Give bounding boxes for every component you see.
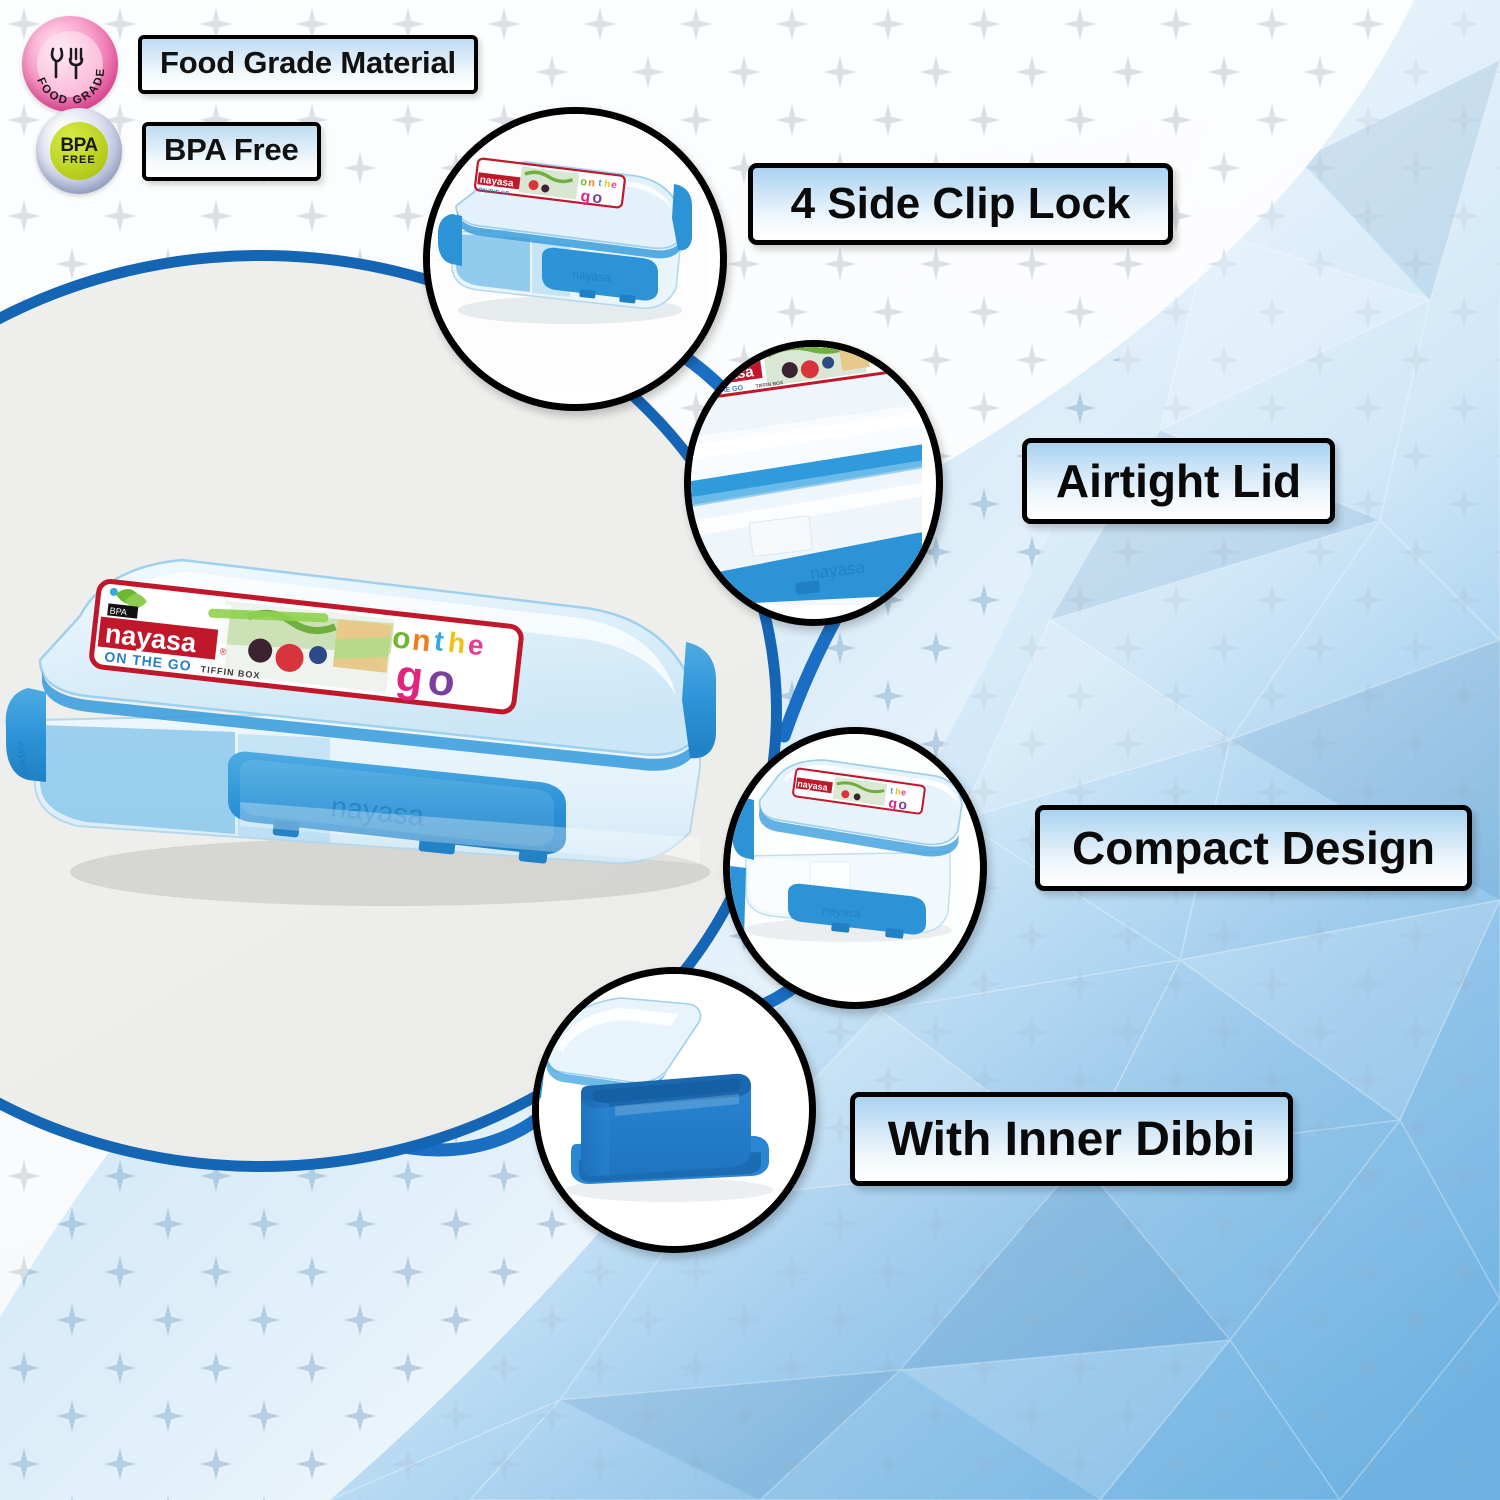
food-grade-arc-text: FOOD GRADE [22,16,118,112]
feature-label-compact-design: Compact Design [1035,805,1472,891]
callout-clip-lock[interactable]: nayasa nayasa ON THE GO o n t h e g o [423,107,727,411]
lunchbox-closed-photo: nayasa nayasa ON THE GO o n t h e g o [430,114,706,390]
feature-label-airtight-lid: Airtight Lid [1022,438,1335,524]
feature-label-clip-lock: 4 Side Clip Lock [748,163,1173,245]
infographic-canvas: nayasa nayasa [0,0,1500,1500]
certification-food-grade: FOOD GRADE Food Grade Material [22,16,478,112]
svg-text:BPA: BPA [109,606,127,618]
feature-label-inner-dibbi: With Inner Dibbi [850,1092,1293,1186]
svg-text:g: g [394,651,426,703]
bpa-free-label: BPA Free [164,132,299,168]
feature-text-clip-lock: 4 Side Clip Lock [791,179,1131,229]
lid-seal-closeup-photo: nayasa ON THE GO TIFFIN BOX BPA [691,347,922,605]
hero-product-image: nayasa nayasa [0,520,760,920]
bpa-seal-line1: BPA [60,137,97,155]
svg-text:g: g [580,188,592,206]
lunchbox-open-photo: nayasa t h e g o nayasa [730,734,966,988]
food-grade-seal-text: FOOD GRADE [34,66,107,107]
bpa-free-icon: BPA FREE [50,122,108,180]
certification-bpa-free: BPA FREE BPA Free [36,108,321,194]
callout-compact-design[interactable]: nayasa t h e g o nayasa [723,727,987,1009]
callout-airtight-lid[interactable]: nayasa ON THE GO TIFFIN BOX BPA [684,340,943,626]
food-grade-pill: Food Grade Material [138,35,478,94]
callout-inner-dibbi[interactable] [532,967,816,1253]
svg-text:h: h [447,627,467,660]
feature-text-airtight-lid: Airtight Lid [1056,454,1301,508]
bpa-free-pill: BPA Free [142,122,321,181]
food-grade-label: Food Grade Material [160,45,456,81]
feature-text-inner-dibbi: With Inner Dibbi [888,1112,1256,1167]
food-grade-seal: FOOD GRADE [22,16,118,112]
inner-dibbi-photo [539,974,795,1232]
svg-text:o: o [425,655,457,707]
bpa-free-seal: BPA FREE [36,108,122,194]
feature-text-compact-design: Compact Design [1072,821,1435,875]
svg-text:FOOD GRADE: FOOD GRADE [34,66,107,107]
bpa-seal-line2: FREE [62,155,95,165]
